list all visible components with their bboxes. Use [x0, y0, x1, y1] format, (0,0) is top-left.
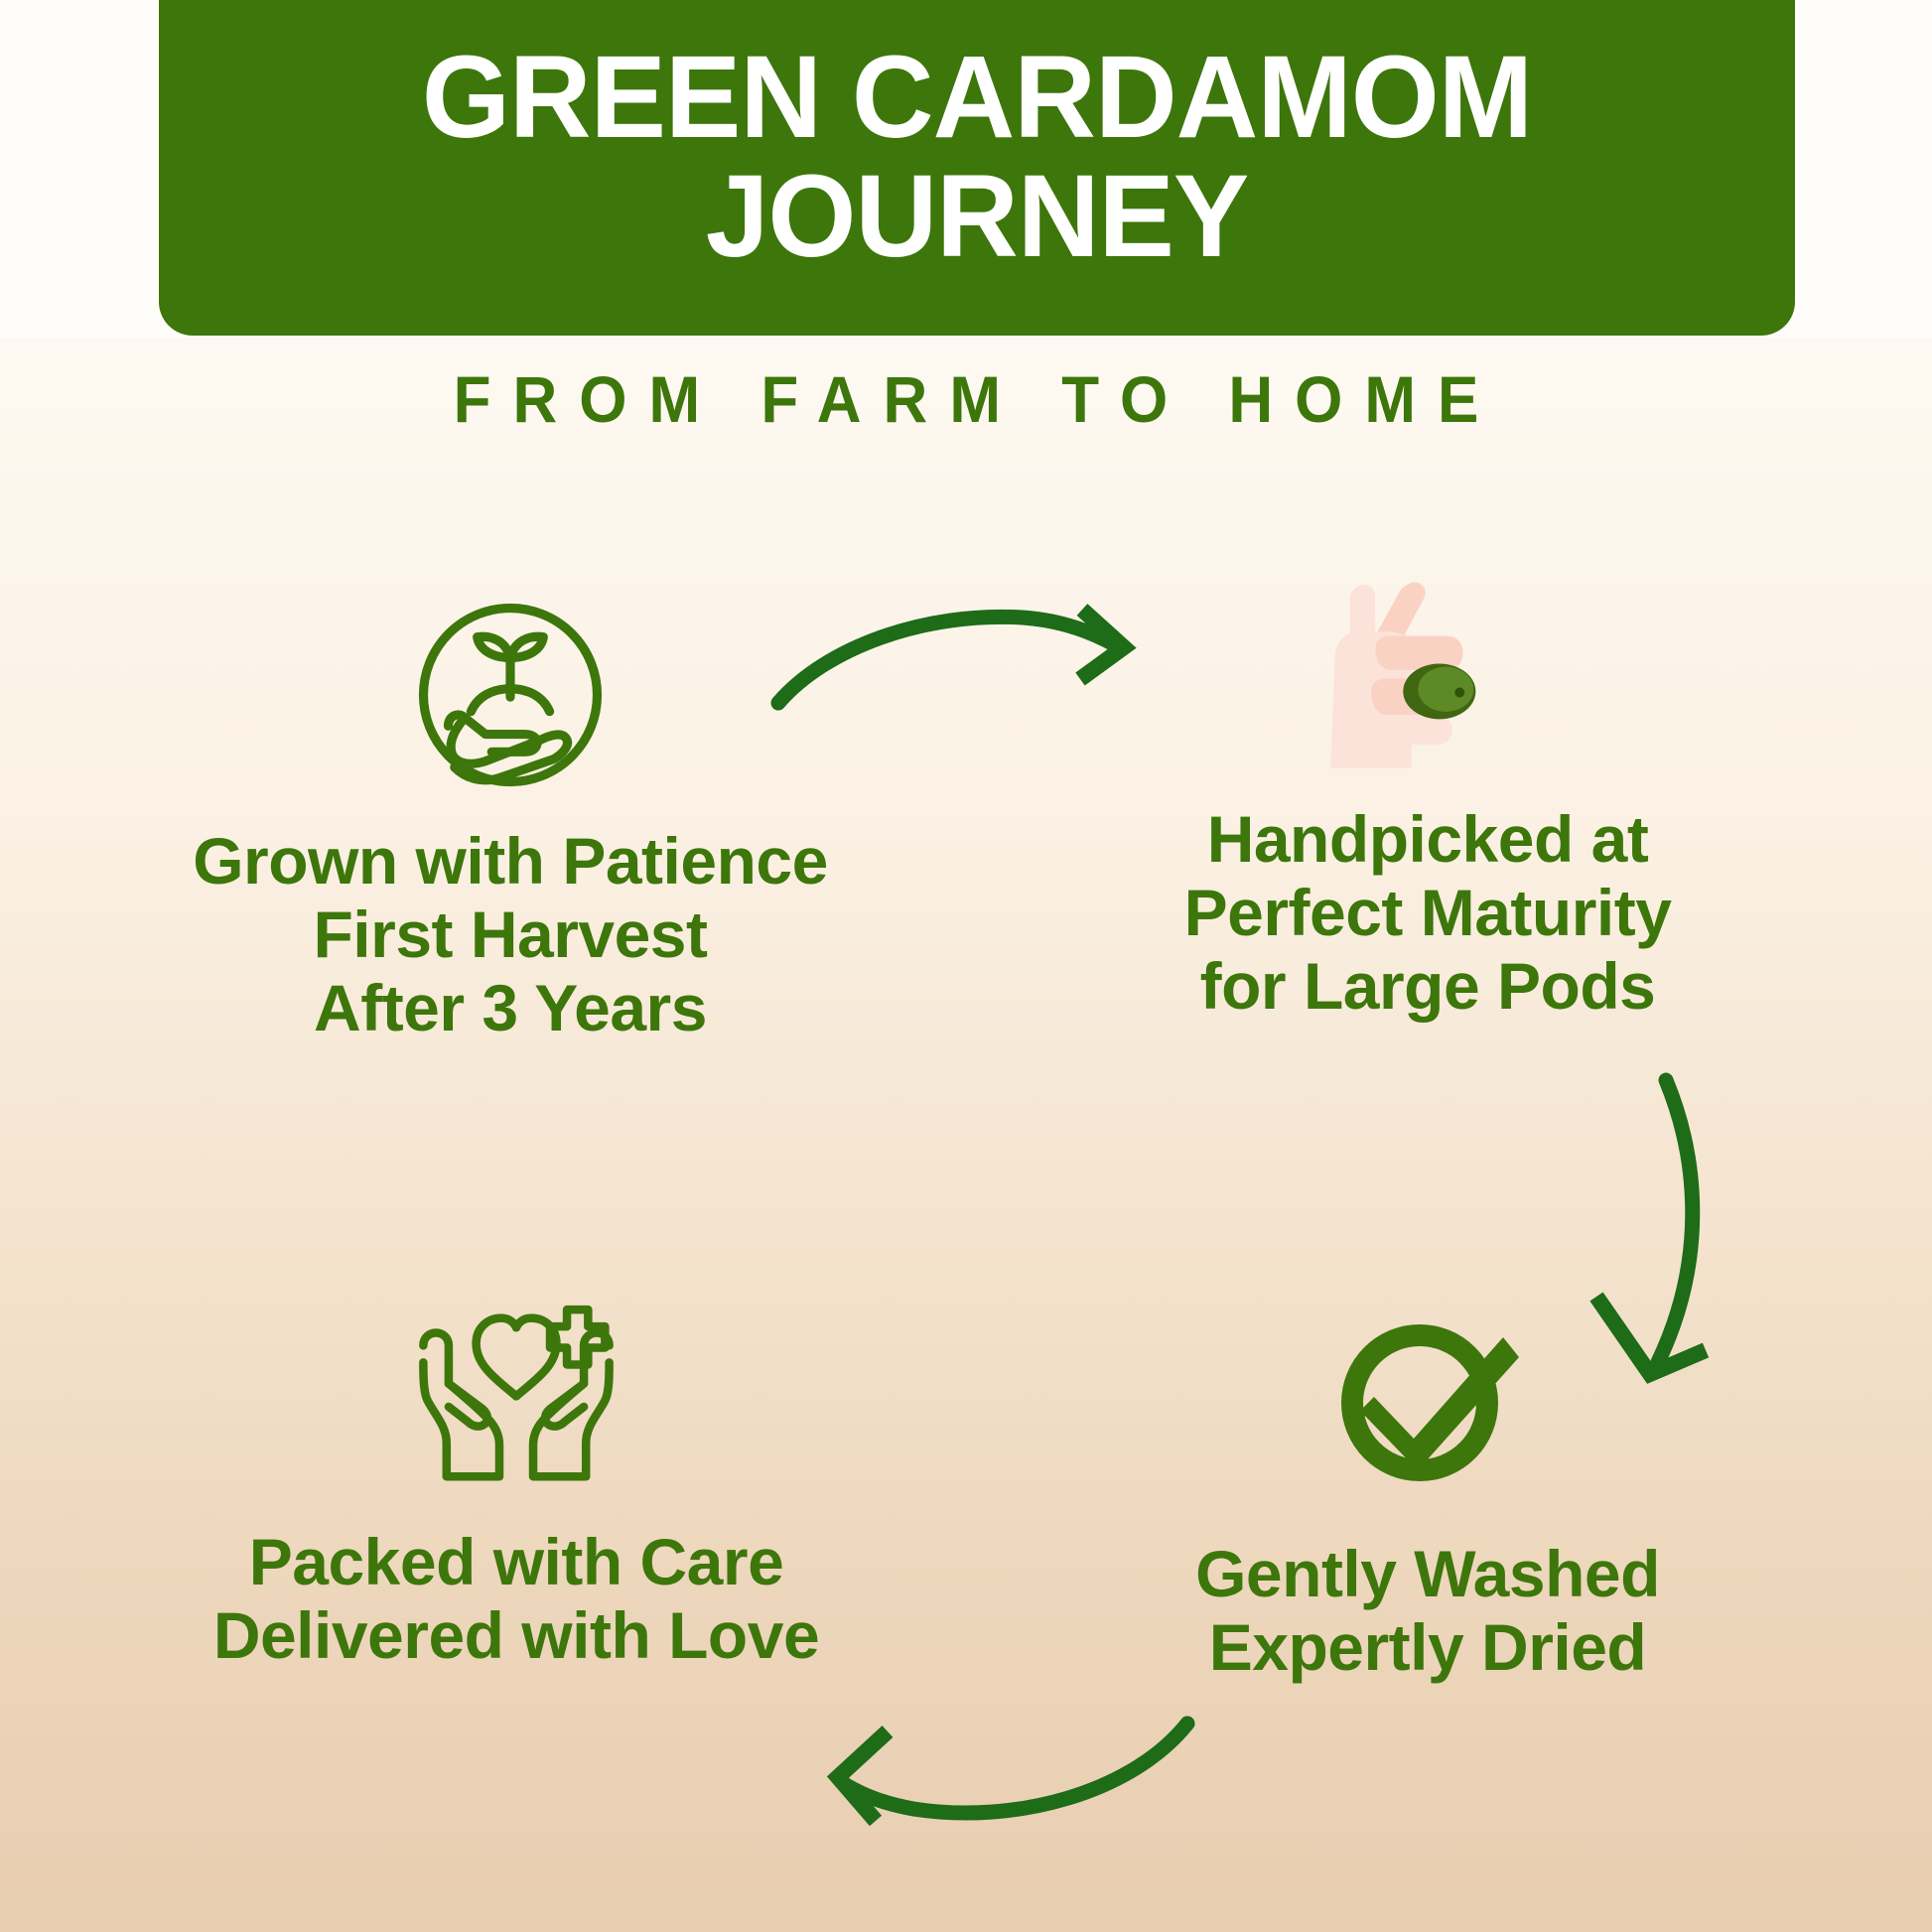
step-caption: Gently Washed Expertly Dried — [1003, 1538, 1853, 1685]
step-caption: Grown with Patience First Harvest After … — [107, 825, 913, 1045]
step-caption: Handpicked at Perfect Maturity for Large… — [1015, 803, 1841, 1024]
page-title: GREEN CARDAMOM JOURNEY — [184, 38, 1771, 277]
header-band: GREEN CARDAMOM JOURNEY — [159, 0, 1795, 336]
arrow-top-right-icon — [766, 584, 1183, 772]
hand-holding-seedling-icon — [406, 596, 615, 794]
icon-container — [99, 1283, 933, 1496]
arrow-bottom-left-icon — [755, 1668, 1211, 1886]
infographic-canvas: GREEN CARDAMOM JOURNEY FROM FARM TO HOME — [0, 0, 1932, 1932]
hands-holding-heart-cross-icon — [406, 1291, 626, 1489]
step-packed: Packed with Care Delivered with Love — [99, 1283, 933, 1673]
check-circle-icon — [1328, 1304, 1527, 1492]
page-subtitle: FROM FARM TO HOME — [0, 363, 1932, 438]
arrow-right-down-icon — [1588, 1052, 1886, 1449]
step-caption: Packed with Care Delivered with Love — [99, 1526, 933, 1673]
hand-pinching-cardamom-pod-icon — [1304, 572, 1552, 785]
